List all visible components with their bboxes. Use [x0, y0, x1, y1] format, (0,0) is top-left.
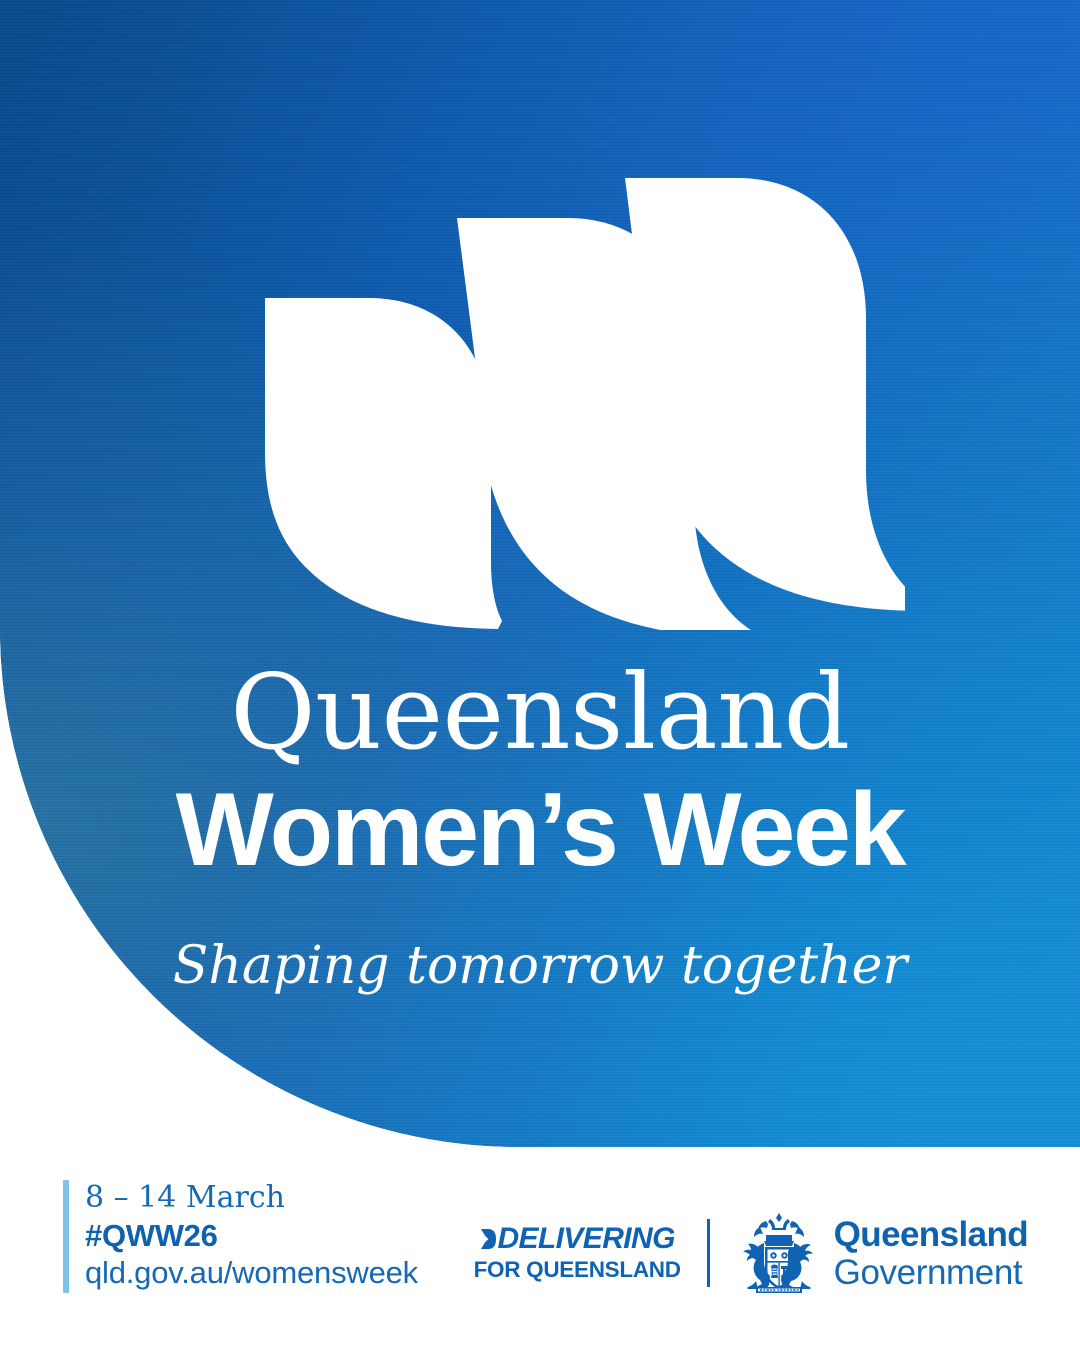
event-url[interactable]: qld.gov.au/womensweek	[85, 1254, 418, 1292]
footer-text-stack: 8 – 14 March #QWW26 qld.gov.au/womenswee…	[85, 1180, 418, 1293]
qgov-line-2: Government	[834, 1255, 1028, 1290]
qww-logo-icon	[245, 160, 905, 630]
queensland-government-logo: Queensland Government	[736, 1211, 1028, 1295]
logo-divider	[707, 1219, 710, 1287]
for-queensland-word: FOR QUEENSLAND	[474, 1259, 681, 1282]
delivering-word: DELIVERING	[497, 1224, 674, 1254]
title-line-2: Women’s Week	[0, 776, 1080, 884]
footer-logos: DELIVERING FOR QUEENSLAND	[474, 1211, 1028, 1295]
delivering-top-row: DELIVERING	[479, 1224, 674, 1254]
qgov-line-1: Queensland	[834, 1217, 1028, 1252]
footer-info-block: 8 – 14 March #QWW26 qld.gov.au/womenswee…	[63, 1180, 418, 1293]
event-dates: 8 – 14 March	[85, 1180, 418, 1217]
poster-canvas: Queensland Women’s Week Shaping tomorrow…	[0, 0, 1080, 1350]
title-line-1: Queensland	[0, 660, 1080, 764]
footer-bar: 8 – 14 March #QWW26 qld.gov.au/womenswee…	[0, 1147, 1080, 1350]
queensland-coat-of-arms-icon	[736, 1211, 822, 1295]
delivering-for-queensland-logo: DELIVERING FOR QUEENSLAND	[474, 1224, 681, 1282]
chevron-arrow-icon	[479, 1228, 496, 1250]
queensland-government-wordmark: Queensland Government	[834, 1217, 1028, 1290]
tagline: Shaping tomorrow together	[0, 936, 1080, 996]
accent-rule	[63, 1180, 69, 1293]
event-hashtag: #QWW26	[85, 1217, 418, 1255]
title-block: Queensland Women’s Week Shaping tomorrow…	[0, 660, 1080, 996]
